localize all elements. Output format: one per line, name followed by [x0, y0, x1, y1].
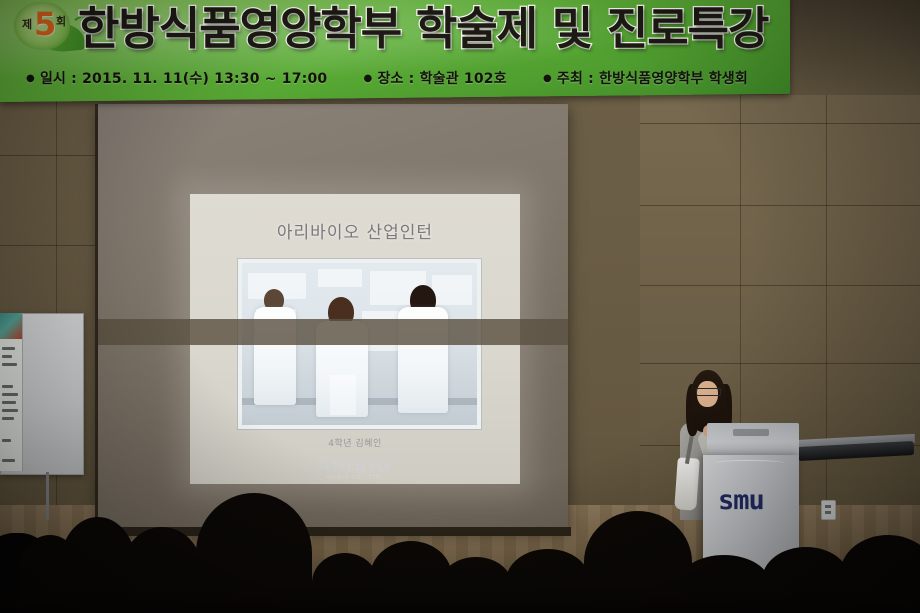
presenter-bag: [674, 457, 700, 510]
slide-caption: 4학년 김혜인: [190, 436, 520, 449]
bullet-icon: ●: [26, 73, 35, 84]
detail-place-label: 장소: [377, 71, 403, 87]
poster: [0, 313, 23, 471]
aribio-logo-subtext: ARIBIO CO., LTD.: [190, 475, 520, 481]
emblem-prefix: 제: [22, 16, 32, 32]
poster-image: [0, 313, 22, 339]
detail-date-value: 2015. 11. 11(수) 13:30 ~ 17:00: [82, 71, 327, 87]
slide-title: 아리바이오 산업인턴: [190, 218, 520, 243]
detail-host: ●주최 : 한방식품영양학부 학생회: [543, 71, 748, 87]
lab-person-coat: [254, 307, 296, 405]
projected-slide: 아리바이오 산업인턴: [190, 194, 520, 484]
banner-details: ●일시 : 2015. 11. 11(수) 13:30 ~ 17:00 ●장소 …: [26, 68, 748, 88]
event-banner: 제 5 회 한방식품영양학부 학술제 및 진로특강 ●일시 : 2015. 11…: [0, 0, 790, 102]
podium-handle: [733, 428, 769, 436]
detail-date-label: 일시: [40, 71, 66, 87]
lecture-hall-photo: 아리바이오 산업인턴: [0, 0, 920, 613]
lab-background: [242, 263, 477, 425]
bullet-icon: ●: [364, 73, 373, 84]
anniversary-emblem: 제 5 회: [8, 0, 88, 54]
notice-board-leg: [46, 472, 49, 520]
projection-screen: 아리바이오 산업인턴: [98, 104, 568, 529]
aribio-logo-text: ARIBIO: [318, 456, 392, 475]
detail-host-value: 한방식품영양학부 학생회: [599, 71, 748, 87]
slide-photo: [238, 259, 481, 429]
bullet-icon: ●: [543, 73, 552, 84]
detail-date: ●일시 : 2015. 11. 11(수) 13:30 ~ 17:00: [26, 71, 332, 87]
detail-place-value: 학술관 102호: [420, 71, 507, 87]
foreground-shadow: [0, 587, 920, 613]
banner-title: 한방식품영양학부 학술제 및 진로특강: [78, 0, 768, 57]
lab-person-coat: [398, 307, 448, 413]
detail-host-label: 주최: [557, 71, 583, 87]
glasses-icon: [696, 388, 721, 396]
power-outlet: [821, 500, 836, 520]
emblem-number: 5: [34, 5, 56, 43]
aribio-logo: ARIBIO ARIBIO CO., LTD.: [190, 456, 520, 481]
smu-logo: smu: [718, 485, 764, 516]
emblem-suffix: 회: [56, 13, 66, 29]
detail-place: ●장소 : 학술관 102호: [364, 71, 512, 87]
